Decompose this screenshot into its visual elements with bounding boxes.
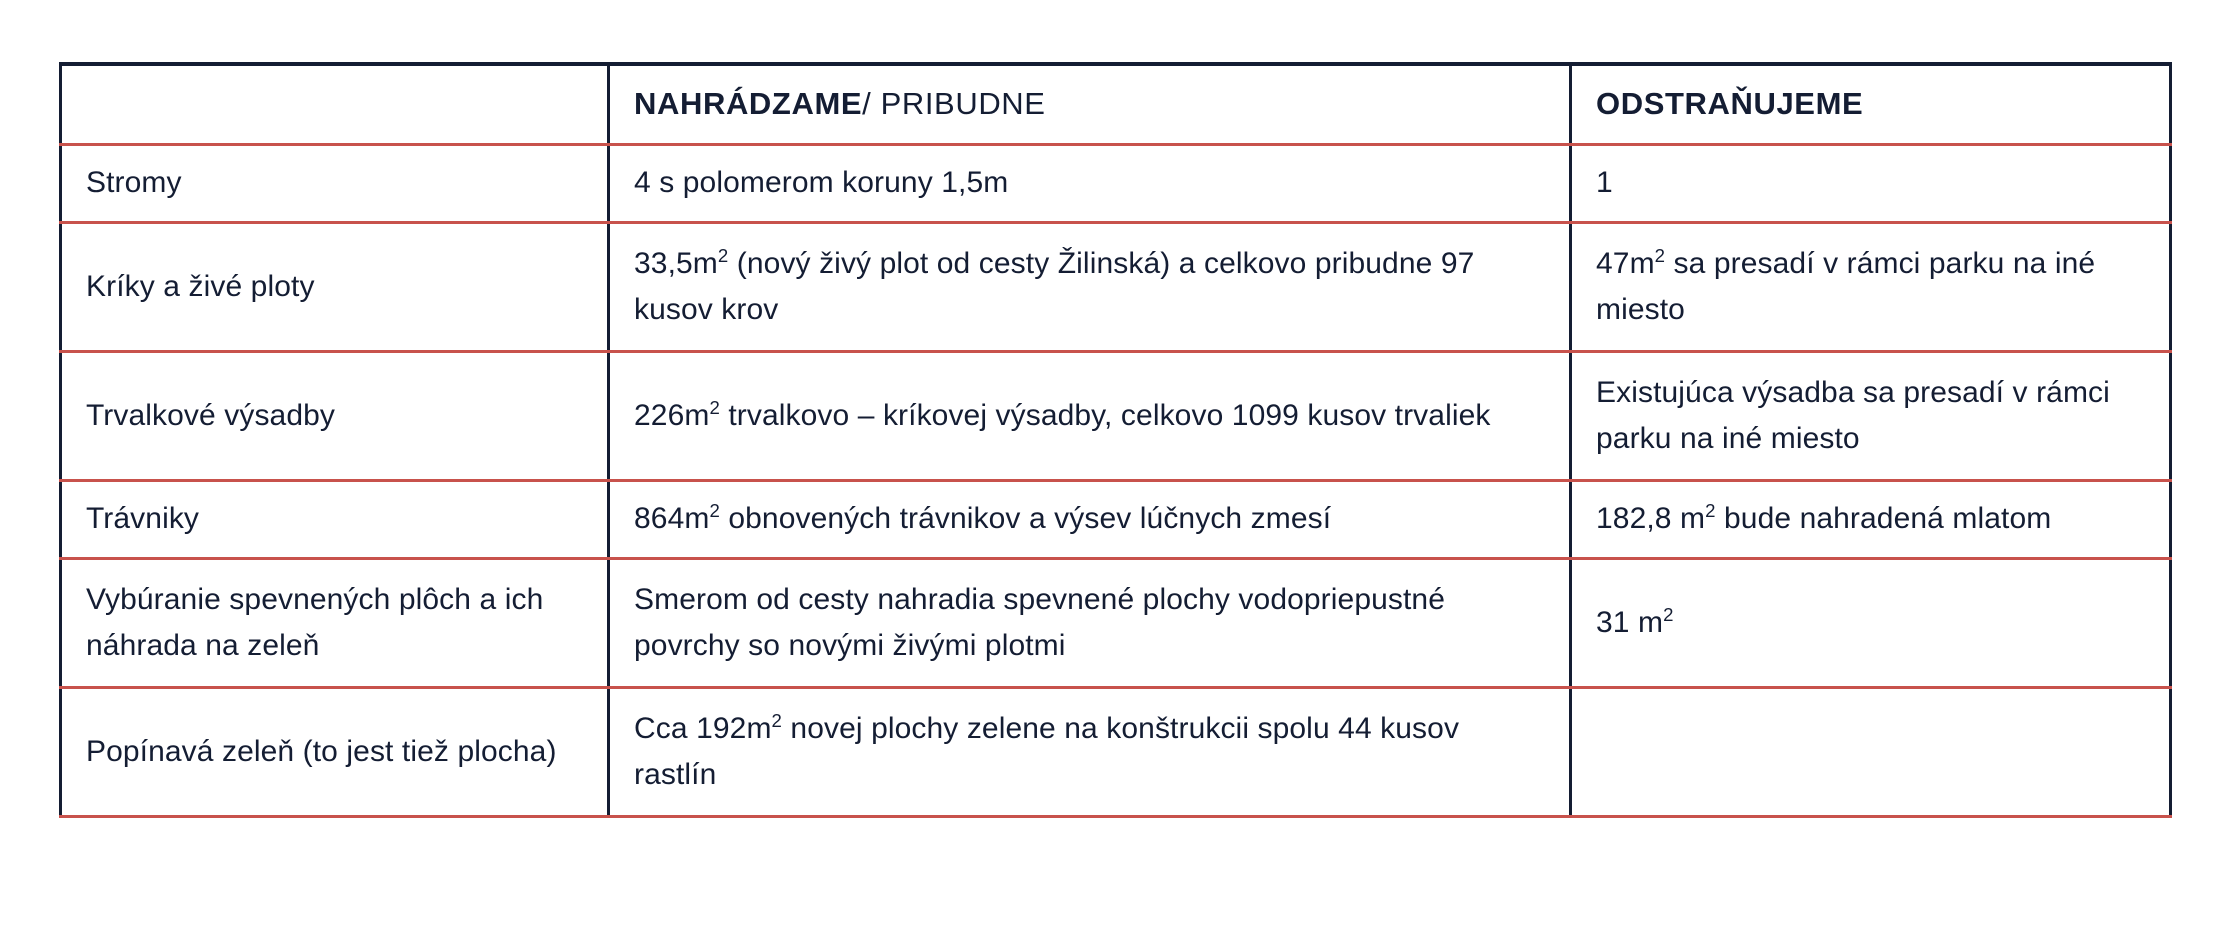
cell-adding-suffix: (nový živý plot od cesty Žilinská) a cel… — [634, 247, 1474, 326]
cell-category-text: Kríky a živé ploty — [86, 264, 607, 310]
cell-adding-suffix: obnovených trávnikov a výsev lúčnych zme… — [720, 502, 1331, 535]
cell-category-text: Popínavá zeleň (to jest tiež plocha) — [86, 729, 607, 775]
cell-adding-prefix: 33,5m — [634, 247, 718, 280]
cell-removing-superscript: 2 — [1663, 604, 1673, 625]
cell-adding: 4 s polomerom koruny 1,5m — [609, 144, 1571, 222]
cell-adding: Cca 192m2 novej plochy zelene na konštru… — [609, 687, 1571, 816]
cell-removing-superscript: 2 — [1705, 500, 1715, 521]
table-row: Trvalkové výsadby 226m2 trvalkovo – krík… — [61, 351, 2171, 480]
cell-category: Stromy — [61, 144, 609, 222]
cell-adding-text: Cca 192m2 novej plochy zelene na konštru… — [634, 706, 1569, 797]
cell-adding: 864m2 obnovených trávnikov a výsev lúčny… — [609, 480, 1571, 558]
cell-removing-prefix: 47m — [1596, 247, 1655, 280]
column-header-removing-strong: ODSTRAŇUJEME — [1596, 86, 1863, 121]
cell-adding-text: 4 s polomerom koruny 1,5m — [634, 160, 1569, 206]
table-row: Vybúranie spevnených plôch a ich náhrada… — [61, 558, 2171, 687]
cell-removing-prefix: 1 — [1596, 166, 1613, 199]
cell-category-text: Vybúranie spevnených plôch a ich náhrada… — [86, 577, 607, 668]
cell-adding: Smerom od cesty nahradia spevnené plochy… — [609, 558, 1571, 687]
cell-category-text: Stromy — [86, 160, 607, 206]
cell-adding-prefix: Smerom od cesty nahradia spevnené plochy… — [634, 583, 1445, 662]
cell-adding-prefix: 226m — [634, 399, 709, 432]
cell-adding-superscript: 2 — [718, 245, 728, 266]
cell-adding: 226m2 trvalkovo – kríkovej výsadby, celk… — [609, 351, 1571, 480]
table-row: Trávniky 864m2 obnovených trávnikov a vý… — [61, 480, 2171, 558]
table-row: Stromy 4 s polomerom koruny 1,5m 1 — [61, 144, 2171, 222]
cell-adding-superscript: 2 — [709, 397, 719, 418]
cell-removing-superscript: 2 — [1655, 245, 1665, 266]
cell-removing: Existujúca výsadba sa presadí v rámci pa… — [1571, 351, 2171, 480]
column-header-adding: NAHRÁDZAME/ PRIBUDNE — [609, 64, 1571, 144]
table-header: NAHRÁDZAME/ PRIBUDNE ODSTRAŇUJEME — [61, 64, 2171, 144]
cell-removing-text: Existujúca výsadba sa presadí v rámci pa… — [1596, 370, 2169, 461]
table-header-row: NAHRÁDZAME/ PRIBUDNE ODSTRAŇUJEME — [61, 64, 2171, 144]
cell-category: Vybúranie spevnených plôch a ich náhrada… — [61, 558, 609, 687]
cell-removing-text: 47m2 sa presadí v rámci parku na iné mie… — [1596, 241, 2169, 332]
cell-adding-prefix: 4 s polomerom koruny 1,5m — [634, 166, 1008, 199]
cell-category-text: Trávniky — [86, 496, 607, 542]
cell-adding-superscript: 2 — [709, 500, 719, 521]
cell-adding-text: 33,5m2 (nový živý plot od cesty Žilinská… — [634, 241, 1569, 332]
cell-adding-text: Smerom od cesty nahradia spevnené plochy… — [634, 577, 1569, 668]
column-header-removing: ODSTRAŇUJEME — [1571, 64, 2171, 144]
cell-adding: 33,5m2 (nový živý plot od cesty Žilinská… — [609, 222, 1571, 351]
cell-removing-prefix: 31 m — [1596, 606, 1663, 639]
cell-removing-text: 1 — [1596, 160, 2169, 206]
document-page: NAHRÁDZAME/ PRIBUDNE ODSTRAŇUJEME Stromy… — [0, 0, 2223, 926]
cell-removing-prefix: Existujúca výsadba sa presadí v rámci pa… — [1596, 376, 2110, 455]
cell-removing-prefix: 182,8 m — [1596, 502, 1705, 535]
cell-adding-prefix: 864m — [634, 502, 709, 535]
cell-removing-text: 31 m2 — [1596, 600, 2169, 646]
cell-removing: 182,8 m2 bude nahradená mlatom — [1571, 480, 2171, 558]
column-header-adding-light: / PRIBUDNE — [862, 86, 1045, 121]
cell-removing: 31 m2 — [1571, 558, 2171, 687]
cell-category: Kríky a živé ploty — [61, 222, 609, 351]
cell-removing: 1 — [1571, 144, 2171, 222]
cell-adding-text: 864m2 obnovených trávnikov a výsev lúčny… — [634, 496, 1569, 542]
table-row: Popínavá zeleň (to jest tiež plocha) Cca… — [61, 687, 2171, 816]
table-row: Kríky a živé ploty 33,5m2 (nový živý plo… — [61, 222, 2171, 351]
cell-removing — [1571, 687, 2171, 816]
cell-removing-suffix: bude nahradená mlatom — [1716, 502, 2052, 535]
cell-adding-superscript: 2 — [772, 710, 782, 731]
cell-removing-text: 182,8 m2 bude nahradená mlatom — [1596, 496, 2169, 542]
cell-category: Trvalkové výsadby — [61, 351, 609, 480]
cell-category-text: Trvalkové výsadby — [86, 393, 607, 439]
cell-category: Popínavá zeleň (to jest tiež plocha) — [61, 687, 609, 816]
cell-removing-suffix: sa presadí v rámci parku na iné miesto — [1596, 247, 2095, 326]
cell-adding-text: 226m2 trvalkovo – kríkovej výsadby, celk… — [634, 393, 1569, 439]
cell-adding-prefix: Cca 192m — [634, 712, 772, 745]
table-body: Stromy 4 s polomerom koruny 1,5m 1 Kríky… — [61, 144, 2171, 816]
greenery-comparison-table: NAHRÁDZAME/ PRIBUDNE ODSTRAŇUJEME Stromy… — [59, 62, 2172, 818]
cell-adding-suffix: trvalkovo – kríkovej výsadby, celkovo 10… — [720, 399, 1491, 432]
cell-removing: 47m2 sa presadí v rámci parku na iné mie… — [1571, 222, 2171, 351]
column-header-category — [61, 64, 609, 144]
cell-category: Trávniky — [61, 480, 609, 558]
column-header-adding-strong: NAHRÁDZAME — [634, 86, 862, 121]
